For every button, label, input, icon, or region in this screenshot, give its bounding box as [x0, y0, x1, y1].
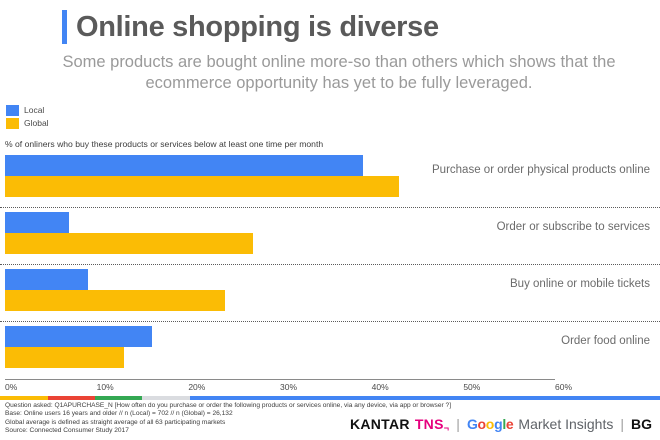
- tns-logo-text: TNS¬: [415, 416, 449, 432]
- category-label: Purchase or order physical products onli…: [432, 164, 650, 176]
- bar-local[interactable]: [5, 212, 69, 233]
- x-tick-label: 40%: [372, 382, 389, 392]
- country-code-label: BG: [631, 416, 652, 432]
- page-subtitle: Some products are bought online more-so …: [0, 52, 660, 94]
- tns-mark: ¬: [444, 423, 450, 433]
- bar-local[interactable]: [5, 326, 152, 347]
- title-row: Online shopping is diverse: [0, 6, 660, 48]
- bar-global[interactable]: [5, 290, 225, 311]
- strip-segment: [48, 396, 95, 400]
- brand-divider-1: |: [456, 416, 460, 432]
- bar-group: Purchase or order physical products onli…: [0, 151, 660, 208]
- market-insights-text: Market Insights: [518, 416, 613, 432]
- x-tick-label: 60%: [555, 382, 572, 392]
- brand-divider-2: |: [620, 416, 624, 432]
- kantar-logo-text: KANTAR: [350, 416, 410, 432]
- axis-note: % of onliners who buy these products or …: [5, 139, 323, 149]
- google-logo-text: Google: [467, 416, 513, 432]
- x-tick-label: 30%: [280, 382, 297, 392]
- legend-swatch-local: [6, 105, 19, 116]
- google-letter: G: [467, 416, 478, 432]
- bar-global[interactable]: [5, 233, 253, 254]
- bar-local[interactable]: [5, 155, 363, 176]
- brand-color-strip: [0, 396, 660, 400]
- strip-segment: [95, 396, 142, 400]
- bar-chart-plot: Purchase or order physical products onli…: [0, 151, 660, 379]
- chart-header: Online shopping is diverse Some products…: [0, 0, 660, 94]
- google-letter: o: [486, 416, 494, 432]
- legend-item-global[interactable]: Global: [6, 118, 49, 129]
- bar-pair: [5, 269, 225, 311]
- page-title: Online shopping is diverse: [76, 10, 439, 44]
- x-tick-label: 20%: [188, 382, 205, 392]
- bar-global[interactable]: [5, 176, 399, 197]
- bar-pair: [5, 155, 399, 197]
- title-accent-bar: [62, 10, 67, 44]
- footnote-line: Question asked: Q1APURCHASE_N [How often…: [5, 402, 451, 410]
- category-label: Order or subscribe to services: [497, 221, 650, 233]
- bar-group: Order food online: [0, 322, 660, 379]
- bar-local[interactable]: [5, 269, 88, 290]
- bar-pair: [5, 212, 253, 254]
- legend-swatch-global: [6, 118, 19, 129]
- strip-segment: [142, 396, 190, 400]
- strip-segment: [190, 396, 660, 400]
- chart-legend: Local Global: [6, 105, 49, 131]
- legend-label-global: Global: [24, 118, 49, 129]
- x-tick-label: 50%: [463, 382, 480, 392]
- bar-group: Buy online or mobile tickets: [0, 265, 660, 322]
- bar-pair: [5, 326, 152, 368]
- legend-label-local: Local: [24, 105, 44, 116]
- x-tick-label: 10%: [97, 382, 114, 392]
- legend-item-local[interactable]: Local: [6, 105, 49, 116]
- category-label: Order food online: [561, 335, 650, 347]
- category-label: Buy online or mobile tickets: [510, 278, 650, 290]
- x-tick-label: 0%: [5, 382, 17, 392]
- google-letter: e: [506, 416, 514, 432]
- brand-bar: KANTAR TNS¬ | Google Market Insights | B…: [350, 416, 652, 432]
- bar-global[interactable]: [5, 347, 124, 368]
- x-axis: 0%10%20%30%40%50%60%: [5, 379, 555, 380]
- strip-segment: [0, 396, 48, 400]
- google-letter: o: [478, 416, 486, 432]
- bar-group: Order or subscribe to services: [0, 208, 660, 265]
